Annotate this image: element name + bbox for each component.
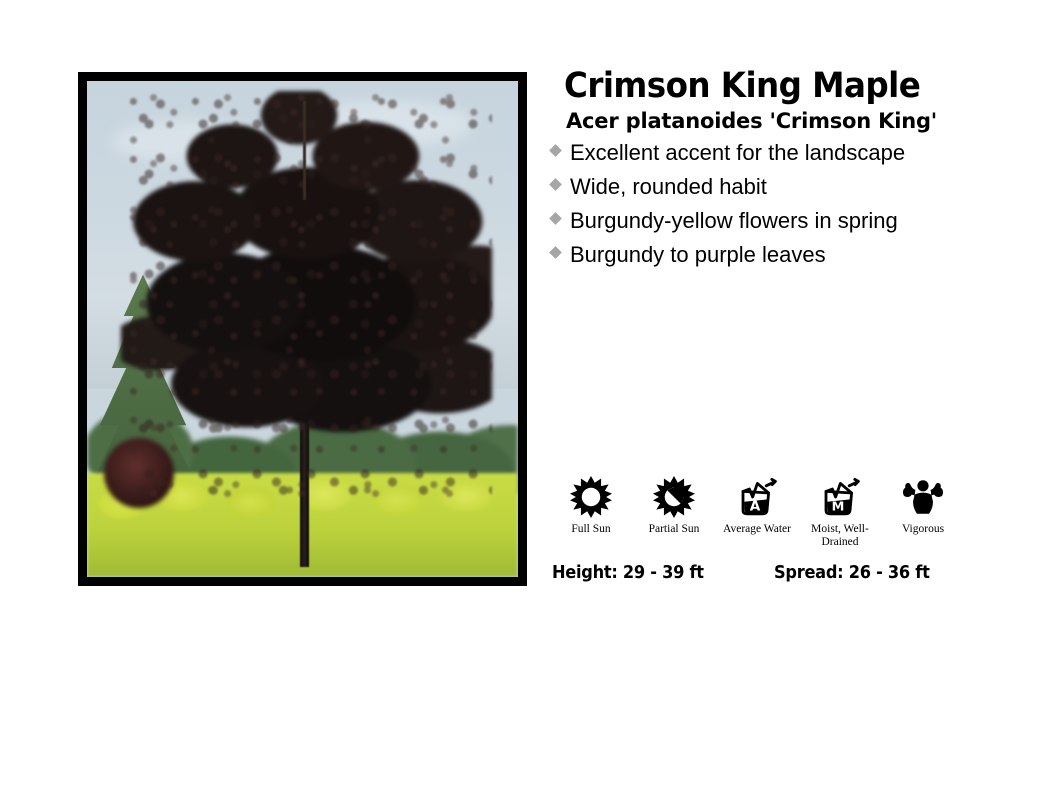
page-title: Crimson King Maple (564, 66, 986, 106)
attribute-full-sun: Full Sun (552, 474, 630, 536)
feature-list: Excellent accent for the landscape Wide,… (548, 137, 1018, 271)
feature-text: Burgundy-yellow flowers in spring (570, 205, 1018, 237)
attribute-icon-row: Full Sun Partial Sun A (552, 474, 962, 549)
height-value: Height: 29 - 39 ft (552, 562, 704, 583)
diamond-bullet-icon (549, 246, 562, 259)
water-badge-letter: A (750, 499, 761, 515)
attribute-label: Partial Sun (635, 523, 713, 536)
list-item: Burgundy-yellow flowers in spring (548, 205, 1018, 237)
list-item: Wide, rounded habit (548, 171, 1018, 203)
attribute-average-water: A Average Water (718, 474, 796, 536)
list-item: Excellent accent for the landscape (548, 137, 1018, 169)
attribute-vigorous: Vigorous (884, 474, 962, 536)
diamond-bullet-icon (549, 178, 562, 191)
water-badge-letter: M (832, 500, 845, 515)
partial-sun-icon (635, 474, 713, 520)
plant-photo (78, 72, 527, 586)
attribute-moist-well-drained: M Moist, Well-Drained (801, 474, 879, 549)
botanical-name: Acer platanoides 'Crimson King' (566, 108, 1018, 134)
full-sun-icon (552, 474, 630, 520)
vigorous-icon (884, 474, 962, 520)
average-water-icon: A (718, 474, 796, 520)
diamond-bullet-icon (549, 144, 562, 157)
attribute-label: Average Water (718, 523, 796, 536)
list-item: Burgundy to purple leaves (548, 239, 1018, 271)
moist-well-drained-icon: M (801, 474, 879, 520)
feature-text: Burgundy to purple leaves (570, 239, 1018, 271)
plant-photo-image (87, 81, 518, 577)
feature-text: Wide, rounded habit (570, 171, 1018, 203)
attribute-partial-sun: Partial Sun (635, 474, 713, 536)
photo-tree-leader (303, 101, 306, 200)
diamond-bullet-icon (549, 212, 562, 225)
attribute-label: Vigorous (884, 523, 962, 536)
photo-tree-foliage-texture (121, 91, 492, 498)
attribute-label: Moist, Well-Drained (801, 523, 879, 549)
plant-info-panel: Crimson King Maple Acer platanoides 'Cri… (548, 66, 1018, 273)
feature-text: Excellent accent for the landscape (570, 137, 1018, 169)
attribute-label: Full Sun (552, 523, 630, 536)
spread-value: Spread: 26 - 36 ft (774, 562, 930, 583)
